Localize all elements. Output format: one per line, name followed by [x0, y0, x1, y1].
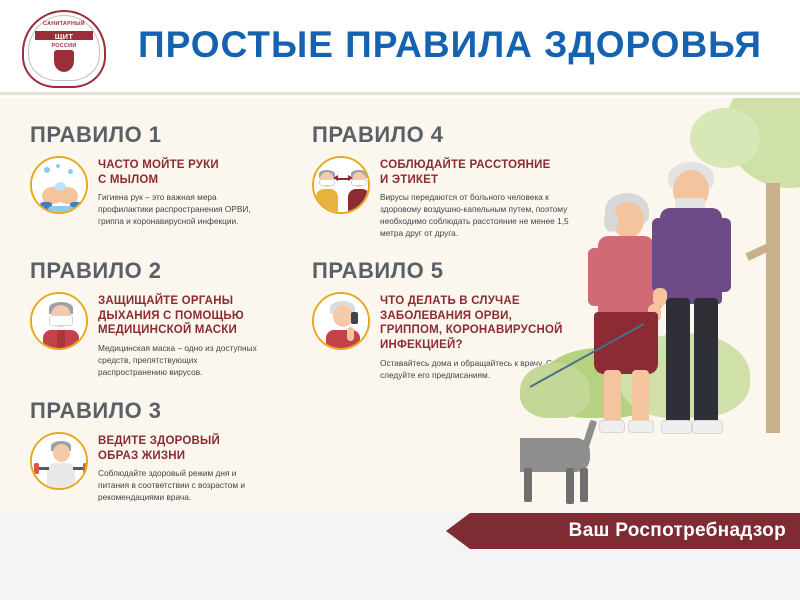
emblem-line3: РОССИИ: [22, 43, 106, 49]
rule-block-1: ПРАВИЛО 1 ЧАСТО МОЙТЕ РУКИ С МЫ: [30, 122, 280, 228]
rule-block-2: ПРАВИЛО 2 ЗАЩИЩАЙТЕ ОРГАНЫ ДЫХАНИЯ С ПОМ…: [30, 258, 280, 379]
dumbbells-icon: [30, 432, 88, 490]
poster-header: САНИТАРНЫЙ ЩИТ РОССИИ ПРОСТЫЕ ПРАВИЛА ЗД…: [0, 0, 800, 95]
washing-hands-icon: [30, 156, 88, 214]
rule-2-title-line2: ДЫХАНИЯ С ПОМОЩЬЮ: [98, 309, 266, 324]
rule-1-heading: ПРАВИЛО 1: [30, 122, 280, 148]
footer-text: Ваш Роспотребнадзор: [569, 520, 786, 542]
elderly-couple-walking-dog-illustration: [520, 98, 800, 510]
rule-2-title-line3: МЕДИЦИНСКОЙ МАСКИ: [98, 323, 266, 338]
call-doctor-icon: [312, 292, 370, 350]
emblem-line1: САНИТАРНЫЙ: [22, 21, 106, 27]
rule-3-title-line2: ОБРАЗ ЖИЗНИ: [98, 449, 266, 464]
emblem-line2: ЩИТ: [22, 32, 106, 41]
rule-3-heading: ПРАВИЛО 3: [30, 398, 280, 424]
rule-1-title-line1: ЧАСТО МОЙТЕ РУКИ: [98, 158, 266, 173]
rule-3-title-line1: ВЕДИТЕ ЗДОРОВЫЙ: [98, 434, 266, 449]
rule-1-title-line2: С МЫЛОМ: [98, 173, 266, 188]
face-mask-icon: [30, 292, 88, 350]
social-distance-icon: [312, 156, 370, 214]
rule-3-description: Соблюдайте здоровый режим дня и питания …: [98, 468, 266, 503]
poster-root: САНИТАРНЫЙ ЩИТ РОССИИ ПРОСТЫЕ ПРАВИЛА ЗД…: [0, 0, 800, 600]
rule-2-description: Медицинская маска – одно из доступных ср…: [98, 343, 266, 378]
shield-emblem-icon: САНИТАРНЫЙ ЩИТ РОССИИ: [22, 10, 106, 88]
page-title: ПРОСТЫЕ ПРАВИЛА ЗДОРОВЬЯ: [120, 24, 780, 66]
rule-2-title-line1: ЗАЩИЩАЙТЕ ОРГАНЫ: [98, 294, 266, 309]
rule-2-heading: ПРАВИЛО 2: [30, 258, 280, 284]
rule-block-3: ПРАВИЛО 3 ВЕДИТЕ ЗДОРОВЫЙ ОБРАЗ ЖИЗНИ Со…: [30, 398, 280, 504]
rule-1-description: Гигиена рук – это важная мера профилакти…: [98, 192, 266, 227]
